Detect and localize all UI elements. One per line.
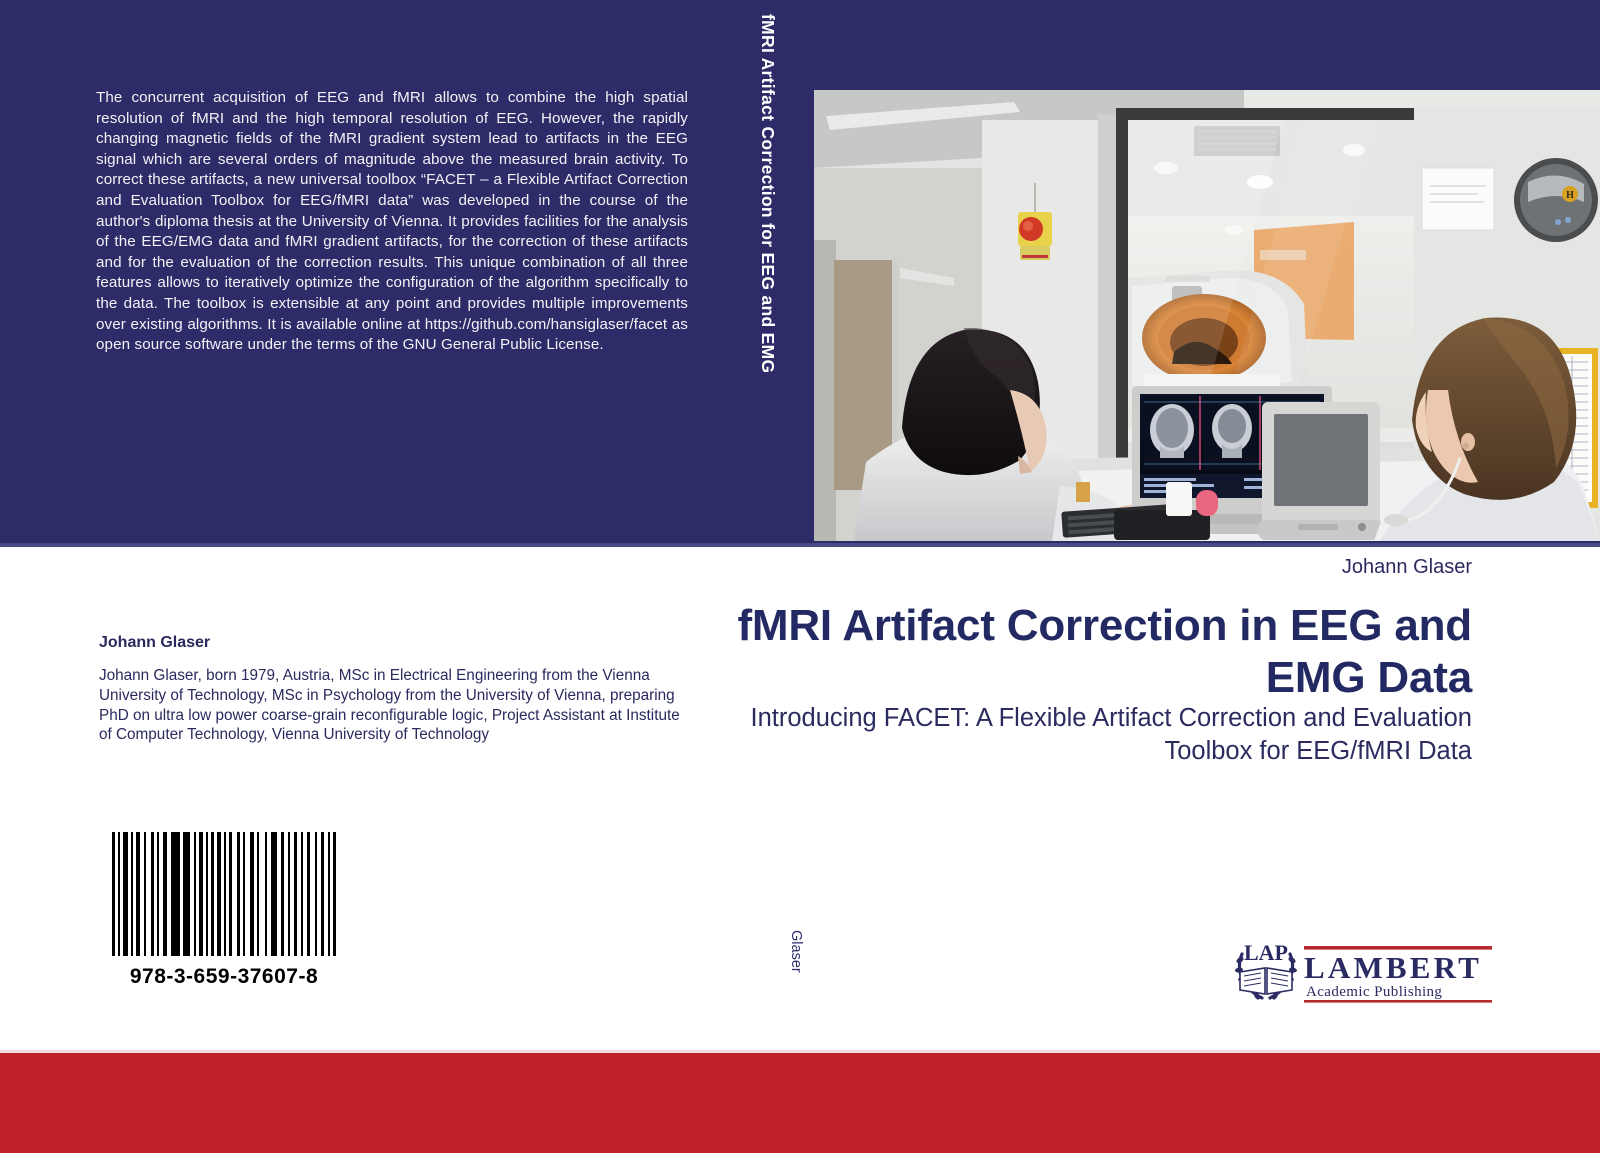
isbn-number: 978-3-659-37607-8 [110, 965, 338, 989]
author-bio-text: Johann Glaser, born 1979, Austria, MSc i… [99, 666, 693, 745]
spine-author: Glaser [758, 930, 804, 1030]
front-cover-author: Johann Glaser [1342, 556, 1472, 579]
front-cover-title: fMRI Artifact Correction in EEG and EMG … [732, 600, 1472, 704]
lambert-academic-publishing-logo: LAP LAMBERT Academic Publishing [1228, 928, 1492, 1004]
bottom-red-band [0, 1053, 1600, 1153]
book-cover: The concurrent acquisition of EEG and fM… [0, 0, 1600, 1153]
barcode-block: 978-3-659-37607-8 [110, 832, 338, 989]
lap-monogram: LAP [1244, 940, 1288, 965]
publisher-tagline: Academic Publishing [1306, 984, 1442, 1000]
cover-photo: H [814, 90, 1600, 541]
lap-emblem-icon: LAP [1235, 940, 1298, 1001]
publisher-logo: LAP LAMBERT Academic Publishing [1228, 928, 1492, 1004]
back-cover-blurb: The concurrent acquisition of EEG and fM… [96, 88, 688, 356]
svg-text:H: H [1566, 190, 1574, 201]
publisher-name: LAMBERT [1304, 950, 1482, 985]
isbn-barcode [110, 832, 338, 956]
front-cover-subtitle: Introducing FACET: A Flexible Artifact C… [732, 702, 1472, 768]
purple-band-underline [0, 543, 1600, 547]
spine-title: fMRI Artifact Correction for EEG and EMG [757, 14, 803, 414]
author-bio-name: Johann Glaser [99, 634, 210, 652]
logo-bottom-rule [1304, 1000, 1492, 1003]
mri-control-room-illustration: H [814, 90, 1600, 541]
